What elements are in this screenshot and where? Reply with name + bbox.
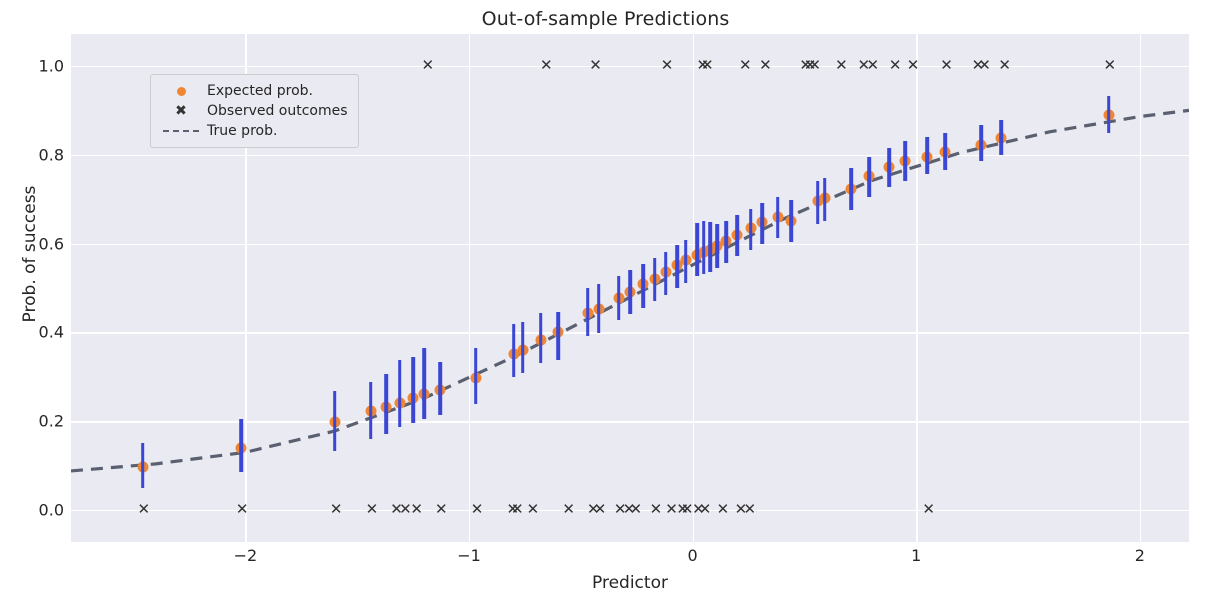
credible-interval-bar: [943, 133, 947, 170]
y-tick-label: 1.0: [2, 56, 64, 75]
credible-interval-bar: [239, 419, 243, 473]
credible-interval-bar: [999, 120, 1003, 155]
observed-outcome-marker: ✕: [594, 502, 607, 517]
chart-title: Out-of-sample Predictions: [0, 8, 1211, 30]
observed-outcome-marker: ✕: [739, 58, 752, 73]
legend-label-expected-prob: Expected prob.: [203, 83, 313, 99]
legend-label-observed-outcomes: Observed outcomes: [203, 103, 348, 119]
plot-area: ✕✕✕✕✕✕✕✕✕✕✕✕✕✕✕✕✕✕✕✕✕✕✕✕✕✕✕✕✕✕✕✕✕✕✕✕✕✕✕✕…: [71, 34, 1189, 542]
credible-interval-bar: [823, 178, 827, 221]
credible-interval-bar: [675, 245, 679, 288]
credible-interval-bar: [642, 264, 646, 308]
credible-interval-bar: [474, 348, 478, 405]
observed-outcome-marker: ✕: [422, 58, 435, 73]
observed-outcome-marker: ✕: [471, 502, 484, 517]
observed-outcome-marker: ✕: [527, 502, 540, 517]
credible-interval-bar: [512, 324, 516, 376]
x-tick-label: −1: [439, 546, 499, 565]
observed-outcome-marker: ✕: [889, 58, 902, 73]
credible-interval-bar: [979, 125, 983, 161]
credible-interval-bar: [926, 137, 930, 174]
credible-interval-bar: [586, 288, 590, 336]
credible-interval-bar: [850, 168, 854, 210]
credible-interval-bar: [411, 357, 415, 423]
credible-interval-bar: [816, 181, 820, 224]
credible-interval-bar: [664, 252, 668, 295]
credible-interval-bar: [617, 276, 621, 320]
observed-outcome-marker: ✕: [701, 58, 714, 73]
observed-outcome-marker: ✕: [330, 502, 343, 517]
credible-interval-bar: [709, 222, 713, 272]
observed-outcome-marker: ✕: [699, 502, 712, 517]
credible-interval-bar: [749, 209, 753, 250]
chart-figure: Out-of-sample Predictions ✕✕✕✕✕✕✕✕✕✕✕✕✕✕…: [0, 0, 1211, 611]
orange-dot-marker-icon: [159, 87, 203, 96]
credible-interval-bar: [888, 148, 892, 187]
legend-item-expected-prob: Expected prob.: [159, 81, 348, 101]
credible-interval-bar: [695, 223, 699, 276]
credible-interval-bar: [333, 391, 337, 451]
x-axis-label: Predictor: [71, 573, 1189, 593]
credible-interval-bar: [628, 270, 632, 314]
dashed-line-icon: [159, 130, 203, 132]
credible-interval-bar: [724, 221, 728, 262]
observed-outcome-marker: ✕: [940, 58, 953, 73]
observed-outcome-marker: ✕: [410, 502, 423, 517]
observed-outcome-marker: ✕: [1104, 58, 1117, 73]
x-marker-icon: ✖: [159, 104, 203, 118]
x-tick-label: 2: [1110, 546, 1170, 565]
legend-item-true-prob: True prob.: [159, 121, 348, 141]
observed-outcome-marker: ✕: [236, 502, 249, 517]
observed-outcome-marker: ✕: [435, 502, 448, 517]
credible-interval-bar: [715, 224, 719, 268]
credible-interval-bar: [1107, 96, 1111, 133]
observed-outcome-marker: ✕: [650, 502, 663, 517]
credible-interval-bar: [867, 157, 871, 197]
credible-interval-bar: [776, 197, 780, 239]
observed-outcome-marker: ✕: [866, 58, 879, 73]
credible-interval-bar: [903, 141, 907, 180]
observed-outcome-marker: ✕: [835, 58, 848, 73]
credible-interval-bar: [760, 203, 764, 245]
credible-interval-bar: [702, 221, 706, 274]
credible-interval-bar: [384, 374, 388, 434]
legend-item-observed-outcomes: ✖ Observed outcomes: [159, 101, 348, 121]
y-tick-label: 0.2: [2, 412, 64, 431]
observed-outcome-marker: ✕: [540, 58, 553, 73]
credible-interval-bar: [557, 312, 561, 360]
credible-interval-bar: [653, 258, 657, 302]
observed-outcome-marker: ✕: [759, 58, 772, 73]
observed-outcome-marker: ✕: [366, 502, 379, 517]
observed-outcome-marker: ✕: [717, 502, 730, 517]
legend-label-true-prob: True prob.: [203, 123, 277, 139]
observed-outcome-marker: ✕: [562, 502, 575, 517]
observed-outcome-marker: ✕: [978, 58, 991, 73]
credible-interval-bar: [141, 443, 145, 488]
x-tick-label: 1: [886, 546, 946, 565]
observed-outcome-marker: ✕: [808, 58, 821, 73]
credible-interval-bar: [597, 284, 601, 333]
observed-outcome-marker: ✕: [629, 502, 642, 517]
y-tick-label: 0.0: [2, 501, 64, 520]
observed-outcome-marker: ✕: [511, 502, 524, 517]
observed-outcome-marker: ✕: [744, 502, 757, 517]
observed-outcome-marker: ✕: [589, 58, 602, 73]
credible-interval-bar: [438, 362, 442, 416]
x-tick-label: 0: [663, 546, 723, 565]
credible-interval-bar: [422, 348, 426, 419]
credible-interval-bar: [369, 382, 373, 439]
x-tick-label: −2: [215, 546, 275, 565]
credible-interval-bar: [398, 360, 402, 427]
chart-legend: Expected prob. ✖ Observed outcomes True …: [150, 74, 359, 148]
credible-interval-bar: [539, 313, 543, 363]
observed-outcome-marker: ✕: [998, 58, 1011, 73]
credible-interval-bar: [684, 240, 688, 283]
observed-outcome-marker: ✕: [661, 58, 674, 73]
credible-interval-bar: [736, 215, 740, 256]
x-axis-ticks: −2−1012: [71, 546, 1189, 572]
observed-outcome-marker: ✕: [907, 58, 920, 73]
observed-outcome-marker: ✕: [922, 502, 935, 517]
observed-outcome-marker: ✕: [138, 502, 151, 517]
y-axis-label: Prob. of success: [20, 104, 40, 404]
credible-interval-bar: [521, 322, 525, 374]
credible-interval-bar: [789, 200, 793, 242]
